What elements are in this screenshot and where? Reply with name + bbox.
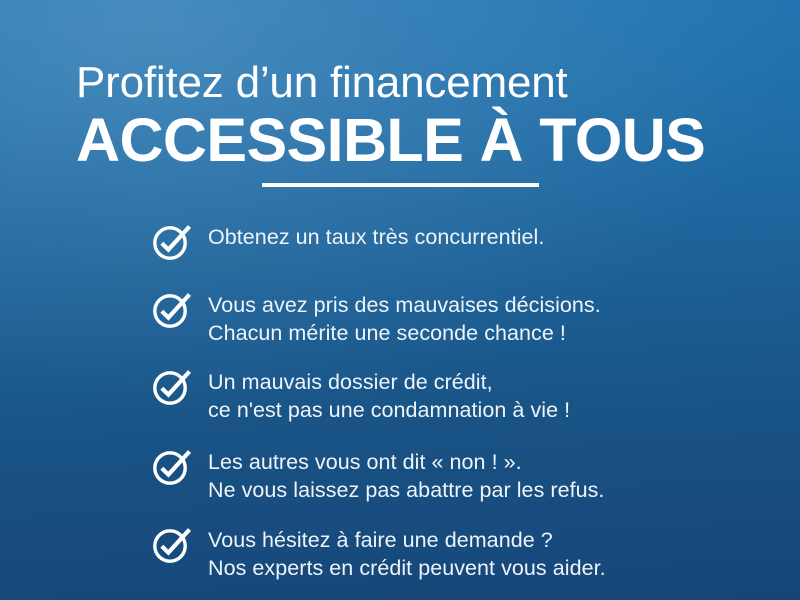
benefit-line-2: Nos experts en crédit peuvent vous aider… [208, 554, 770, 582]
benefit-item: Vous hésitez à faire une demande ? Nos e… [150, 523, 770, 582]
benefit-line-2: ce n'est pas une condamnation à vie ! [208, 396, 770, 424]
benefit-line-1: Un mauvais dossier de crédit, [208, 370, 493, 394]
benefit-line-2: Chacun mérite une seconde chance ! [208, 319, 770, 347]
check-circle-icon [150, 366, 192, 408]
benefit-text: Obtenez un taux très concurrentiel. [208, 220, 770, 251]
headline-subtitle: Profitez d’un financement [76, 58, 776, 108]
promo-banner: Profitez d’un financement ACCESSIBLE À T… [0, 0, 800, 600]
benefit-text: Vous hésitez à faire une demande ? Nos e… [208, 523, 770, 582]
benefit-text: Les autres vous ont dit « non ! ». Ne vo… [208, 445, 770, 504]
benefit-item: Vous avez pris des mauvaises décisions. … [150, 288, 770, 347]
headline-divider [262, 183, 539, 187]
check-circle-icon [150, 446, 192, 488]
headline-title: ACCESSIBLE À TOUS [76, 108, 776, 172]
benefit-line-1: Vous hésitez à faire une demande ? [208, 528, 553, 552]
check-circle-icon [150, 289, 192, 331]
benefit-line-1: Vous avez pris des mauvaises décisions. [208, 293, 601, 317]
check-circle-icon [150, 524, 192, 566]
check-circle-icon [150, 221, 192, 263]
benefit-item: Obtenez un taux très concurrentiel. [150, 220, 770, 263]
benefit-item: Les autres vous ont dit « non ! ». Ne vo… [150, 445, 770, 504]
headline-block: Profitez d’un financement ACCESSIBLE À T… [76, 58, 776, 172]
benefits-list: Obtenez un taux très concurrentiel. Vous… [150, 220, 770, 582]
benefit-line-1: Obtenez un taux très concurrentiel. [208, 225, 544, 249]
benefit-text: Vous avez pris des mauvaises décisions. … [208, 288, 770, 347]
benefit-line-1: Les autres vous ont dit « non ! ». [208, 450, 522, 474]
benefit-line-2: Ne vous laissez pas abattre par les refu… [208, 476, 770, 504]
benefit-item: Un mauvais dossier de crédit, ce n'est p… [150, 365, 770, 424]
benefit-text: Un mauvais dossier de crédit, ce n'est p… [208, 365, 770, 424]
